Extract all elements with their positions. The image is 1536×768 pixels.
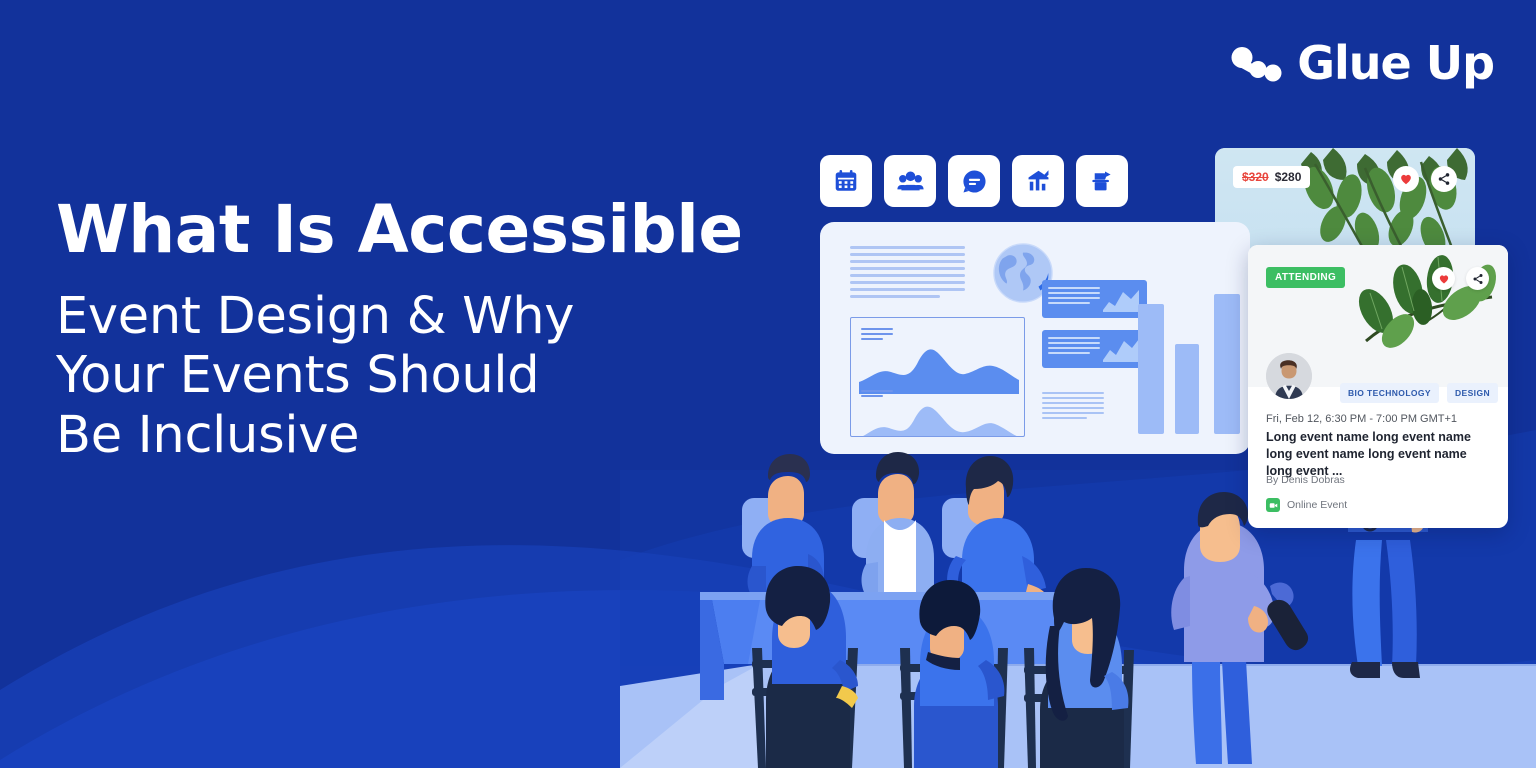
event-format-label: Online Event xyxy=(1287,499,1347,511)
event-format: Online Event xyxy=(1266,498,1347,512)
event-author: By Denis Dobras xyxy=(1266,474,1345,486)
analytics-dashboard-card[interactable] xyxy=(820,222,1250,454)
finance-icon-tile[interactable] xyxy=(1076,155,1128,207)
area-chart-lower xyxy=(851,404,1025,437)
tag-item[interactable]: DESIGN xyxy=(1447,383,1498,403)
speaker-avatar-image xyxy=(1266,353,1312,399)
price-tag: $320 $280 xyxy=(1233,166,1310,188)
dashboard-text-block xyxy=(850,246,965,302)
event-datetime: Fri, Feb 12, 6:30 PM - 7:00 PM GMT+1 xyxy=(1266,413,1457,425)
area-chart-upper xyxy=(851,342,1025,397)
hero-copy: What Is Accessible Event Design & Why Yo… xyxy=(56,196,756,466)
brand-logo[interactable]: Glue Up xyxy=(1229,35,1494,91)
bar-column-1 xyxy=(1138,304,1164,434)
info-card-1[interactable] xyxy=(1042,280,1147,318)
page-subtitle: Event Design & Why Your Events Should Be… xyxy=(56,287,756,466)
avatar[interactable] xyxy=(1266,353,1312,399)
chart-label-top xyxy=(861,328,893,343)
finance-icon xyxy=(1089,168,1116,195)
event-title[interactable]: Long event name long event name long eve… xyxy=(1266,429,1494,480)
area-chart-thumb-2 xyxy=(1101,336,1141,364)
chat-icon-tile[interactable] xyxy=(948,155,1000,207)
calendar-icon-tile[interactable] xyxy=(820,155,872,207)
bar-column-2 xyxy=(1175,344,1199,434)
chat-icon xyxy=(961,168,988,195)
heart-icon xyxy=(1438,273,1450,285)
area-chart-panel[interactable] xyxy=(850,317,1025,437)
area-chart-thumb-1 xyxy=(1101,286,1141,314)
tag-item[interactable]: BIO TECHNOLOGY xyxy=(1340,383,1439,403)
event-share-button[interactable] xyxy=(1466,267,1489,290)
share-button[interactable] xyxy=(1431,166,1457,192)
price-discounted: $280 xyxy=(1275,170,1302,184)
event-detail-card[interactable]: ATTENDING BIO TECHNOLOGY DE xyxy=(1248,245,1508,528)
members-icon xyxy=(897,168,924,195)
event-tags: BIO TECHNOLOGY DESIGN xyxy=(1340,383,1498,403)
chart-label-bottom xyxy=(861,390,893,400)
like-button[interactable] xyxy=(1393,166,1419,192)
subtitle-line-2: Your Events Should xyxy=(56,346,756,406)
calendar-icon xyxy=(833,168,859,194)
page-title: What Is Accessible xyxy=(56,196,756,265)
analytics-icon xyxy=(1025,168,1052,195)
info-card-2[interactable] xyxy=(1042,330,1147,368)
share-icon xyxy=(1472,273,1484,285)
status-badge: ATTENDING xyxy=(1266,267,1345,288)
members-icon-tile[interactable] xyxy=(884,155,936,207)
brand-name: Glue Up xyxy=(1297,36,1494,90)
video-camera-icon xyxy=(1266,498,1280,512)
info-card-1-text xyxy=(1048,287,1100,307)
glueup-molecule-logo xyxy=(1229,35,1285,91)
share-icon xyxy=(1437,172,1451,186)
dashboard-footer-text xyxy=(1042,392,1104,422)
heart-icon xyxy=(1399,172,1413,186)
analytics-icon-tile[interactable] xyxy=(1012,155,1064,207)
subtitle-line-3: Be Inclusive xyxy=(56,406,756,466)
subtitle-line-1: Event Design & Why xyxy=(56,287,756,347)
info-card-2-text xyxy=(1048,337,1100,357)
event-like-button[interactable] xyxy=(1432,267,1455,290)
hero-banner: Glue Up What Is Accessible Event Design … xyxy=(0,0,1536,768)
price-original: $320 xyxy=(1242,170,1269,184)
bar-column-3 xyxy=(1214,294,1240,434)
module-icon-row xyxy=(820,155,1128,207)
